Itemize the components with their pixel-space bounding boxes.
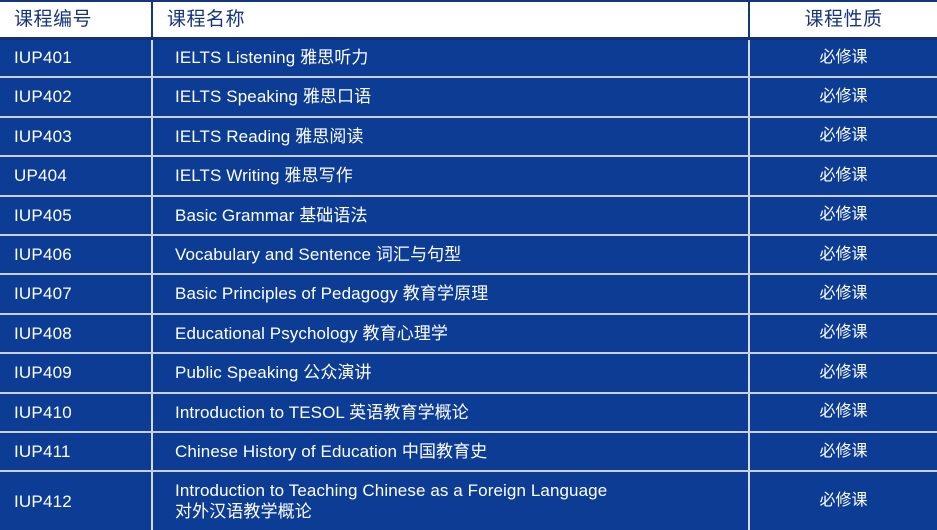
cell-course-type: 必修课 bbox=[749, 314, 937, 353]
course-name-line: Basic Grammar 基础语法 bbox=[175, 205, 742, 226]
cell-course-name: IELTS Speaking 雅思口语 bbox=[152, 77, 749, 116]
cell-course-name: IELTS Listening 雅思听力 bbox=[152, 38, 749, 77]
course-name-line: Basic Principles of Pedagogy 教育学原理 bbox=[175, 283, 742, 304]
cell-course-name: Vocabulary and Sentence 词汇与句型 bbox=[152, 235, 749, 274]
table-body: IUP401IELTS Listening 雅思听力必修课IUP402IELTS… bbox=[0, 38, 937, 530]
course-name-line: Introduction to Teaching Chinese as a Fo… bbox=[175, 480, 742, 501]
cell-course-name: Educational Psychology 教育心理学 bbox=[152, 314, 749, 353]
cell-course-code: IUP402 bbox=[0, 77, 152, 116]
cell-course-name: IELTS Writing 雅思写作 bbox=[152, 156, 749, 195]
cell-course-type: 必修课 bbox=[749, 156, 937, 195]
table-row: IUP405Basic Grammar 基础语法必修课 bbox=[0, 196, 937, 235]
course-table: 课程编号 课程名称 课程性质 IUP401IELTS Listening 雅思听… bbox=[0, 0, 937, 530]
cell-course-code: IUP403 bbox=[0, 117, 152, 156]
cell-course-name: IELTS Reading 雅思阅读 bbox=[152, 117, 749, 156]
cell-course-type: 必修课 bbox=[749, 471, 937, 530]
cell-course-type: 必修课 bbox=[749, 117, 937, 156]
column-header-course-type: 课程性质 bbox=[749, 1, 937, 38]
cell-course-code: IUP410 bbox=[0, 393, 152, 432]
course-name-line: IELTS Reading 雅思阅读 bbox=[175, 126, 742, 147]
table-row: IUP402IELTS Speaking 雅思口语必修课 bbox=[0, 77, 937, 116]
course-name-line: IELTS Speaking 雅思口语 bbox=[175, 86, 742, 107]
table-row: IUP408Educational Psychology 教育心理学必修课 bbox=[0, 314, 937, 353]
cell-course-code: IUP401 bbox=[0, 38, 152, 77]
table-row: IUP407Basic Principles of Pedagogy 教育学原理… bbox=[0, 274, 937, 313]
cell-course-type: 必修课 bbox=[749, 196, 937, 235]
cell-course-code: IUP405 bbox=[0, 196, 152, 235]
table-row: IUP409Public Speaking 公众演讲必修课 bbox=[0, 353, 937, 392]
cell-course-type: 必修课 bbox=[749, 353, 937, 392]
table-header: 课程编号 课程名称 课程性质 bbox=[0, 1, 937, 38]
table-row: IUP403IELTS Reading 雅思阅读必修课 bbox=[0, 117, 937, 156]
cell-course-code: UP404 bbox=[0, 156, 152, 195]
course-name-line: Chinese History of Education 中国教育史 bbox=[175, 441, 742, 462]
course-name-line: IELTS Writing 雅思写作 bbox=[175, 165, 742, 186]
cell-course-code: IUP408 bbox=[0, 314, 152, 353]
table-row: IUP410Introduction to TESOL 英语教育学概论必修课 bbox=[0, 393, 937, 432]
course-name-line: IELTS Listening 雅思听力 bbox=[175, 47, 742, 68]
cell-course-type: 必修课 bbox=[749, 38, 937, 77]
table-row: IUP411Chinese History of Education 中国教育史… bbox=[0, 432, 937, 471]
cell-course-name: Introduction to Teaching Chinese as a Fo… bbox=[152, 471, 749, 530]
cell-course-name: Public Speaking 公众演讲 bbox=[152, 353, 749, 392]
cell-course-type: 必修课 bbox=[749, 77, 937, 116]
column-header-course-code: 课程编号 bbox=[0, 1, 152, 38]
course-name-line: Public Speaking 公众演讲 bbox=[175, 362, 742, 383]
course-name-line: Introduction to TESOL 英语教育学概论 bbox=[175, 402, 742, 423]
table-row: UP404IELTS Writing 雅思写作必修课 bbox=[0, 156, 937, 195]
course-name-line: 对外汉语教学概论 bbox=[175, 501, 742, 522]
header-row: 课程编号 课程名称 课程性质 bbox=[0, 1, 937, 38]
table-row: IUP401IELTS Listening 雅思听力必修课 bbox=[0, 38, 937, 77]
cell-course-type: 必修课 bbox=[749, 432, 937, 471]
cell-course-name: Chinese History of Education 中国教育史 bbox=[152, 432, 749, 471]
cell-course-type: 必修课 bbox=[749, 274, 937, 313]
cell-course-type: 必修课 bbox=[749, 235, 937, 274]
cell-course-type: 必修课 bbox=[749, 393, 937, 432]
cell-course-code: IUP407 bbox=[0, 274, 152, 313]
course-name-line: Vocabulary and Sentence 词汇与句型 bbox=[175, 244, 742, 265]
cell-course-code: IUP412 bbox=[0, 471, 152, 530]
cell-course-code: IUP409 bbox=[0, 353, 152, 392]
cell-course-code: IUP411 bbox=[0, 432, 152, 471]
cell-course-name: Introduction to TESOL 英语教育学概论 bbox=[152, 393, 749, 432]
cell-course-name: Basic Grammar 基础语法 bbox=[152, 196, 749, 235]
course-name-line: Educational Psychology 教育心理学 bbox=[175, 323, 742, 344]
table-row: IUP412Introduction to Teaching Chinese a… bbox=[0, 471, 937, 530]
table-row: IUP406Vocabulary and Sentence 词汇与句型必修课 bbox=[0, 235, 937, 274]
column-header-course-name: 课程名称 bbox=[152, 1, 749, 38]
cell-course-code: IUP406 bbox=[0, 235, 152, 274]
cell-course-name: Basic Principles of Pedagogy 教育学原理 bbox=[152, 274, 749, 313]
